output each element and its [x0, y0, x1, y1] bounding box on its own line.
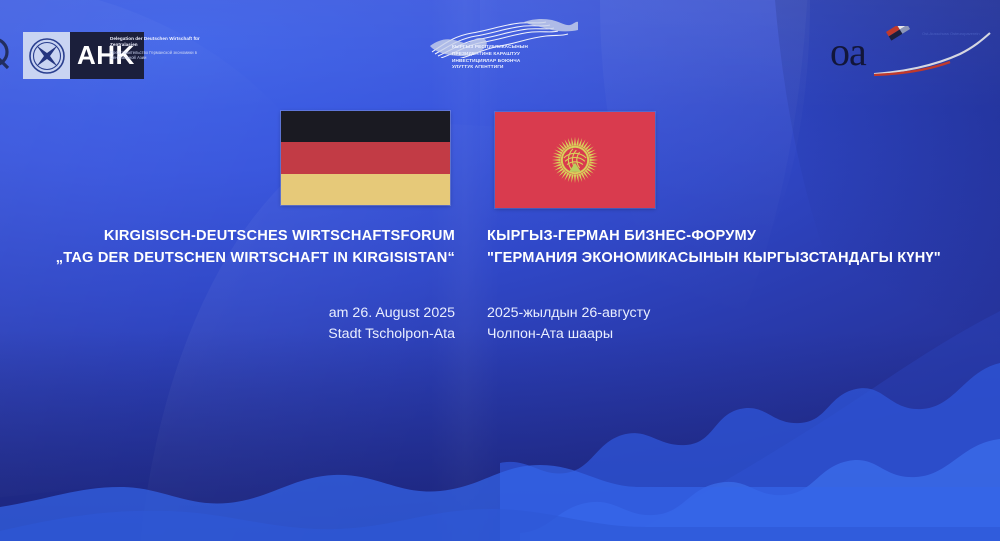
- kyrgyz-title-line-2: "ГЕРМАНИЯ ЭКОНОМИКАСЫНЫН КЫРГЫЗСТАНДАГЫ …: [487, 247, 1000, 269]
- ahk-subtitle-de: Delegation der Deutschen Wirtschaft für …: [110, 36, 202, 47]
- kyrgyz-title-block: КЫРГЫЗ-ГЕРМАН БИЗНЕС-ФОРУМУ "ГЕРМАНИЯ ЭК…: [487, 225, 1000, 269]
- german-title-block: KIRGISISCH-DEUTSCHES WIRTSCHAFTSFORUM „T…: [0, 225, 455, 269]
- germany-flag-stripe-red: [281, 142, 450, 173]
- germany-flag-stripe-black: [281, 111, 450, 142]
- german-event-place: Stadt Tscholpon-Ata: [0, 324, 455, 345]
- german-title-line-2: „TAG DER DEUTSCHEN WIRTSCHAFT IN KIRGISI…: [0, 247, 455, 269]
- kyrgyz-event-details: 2025-жылдын 26-августу Чолпон-Ата шаары: [487, 303, 1000, 345]
- kyrgyz-event-place: Чолпон-Ата шаары: [487, 324, 1000, 345]
- ahk-subtitle-ru: Представительство Германской экономики в…: [110, 50, 202, 60]
- conference-backdrop-banner: AHK Delegation der Deutschen Wirtschaft …: [0, 0, 1000, 541]
- ost-ausschuss-subtitle: Ost-Ausschuss Osteuropaverein: [922, 31, 994, 36]
- kyrgyz-agency-title: КЫРГЫЗ РЕСПУБЛИКАСЫНЫН ПРЕЗИДЕНТИНЕ КАРА…: [452, 44, 572, 71]
- kyrgyz-agency-title-line-2: ПРЕЗИДЕНТИНЕ КАРАШТУУ: [452, 51, 572, 58]
- germany-flag-stripe-gold: [281, 174, 450, 205]
- title-section: KIRGISISCH-DEUTSCHES WIRTSCHAFTSFORUM „T…: [0, 225, 1000, 285]
- ahk-subtitle: Delegation der Deutschen Wirtschaft für …: [110, 36, 202, 60]
- event-details-section: am 26. August 2025 Stadt Tscholpon-Ata 2…: [0, 303, 1000, 353]
- kyrgyz-agency-title-line-3: ИНВЕСТИЦИЯЛАР БОЮНЧА: [452, 58, 572, 65]
- germany-flag: [281, 111, 450, 205]
- ost-ausschuss-logo: oa Ost-Ausschuss Osteuropaverein: [830, 26, 995, 82]
- kyrgyzstan-sun-icon: [542, 127, 608, 193]
- german-event-details: am 26. August 2025 Stadt Tscholpon-Ata: [0, 303, 455, 345]
- kyrgyz-title-line-1: КЫРГЫЗ-ГЕРМАН БИЗНЕС-ФОРУМУ: [487, 225, 1000, 247]
- ahk-compass-mark-icon: [23, 32, 70, 79]
- german-title-line-1: KIRGISISCH-DEUTSCHES WIRTSCHAFTSFORUM: [0, 225, 455, 247]
- kyrgyz-agency-title-line-1: КЫРГЫЗ РЕСПУБЛИКАСЫНЫН: [452, 44, 572, 51]
- kyrgyz-agency-title-line-4: УЛУТТУК АГЕНТТИГИ: [452, 64, 572, 71]
- ahk-compass-icon: [28, 37, 66, 75]
- kyrgyz-event-date: 2025-жылдын 26-августу: [487, 303, 1000, 324]
- kyrgyzstan-flag: [495, 112, 655, 208]
- german-event-date: am 26. August 2025: [0, 303, 455, 324]
